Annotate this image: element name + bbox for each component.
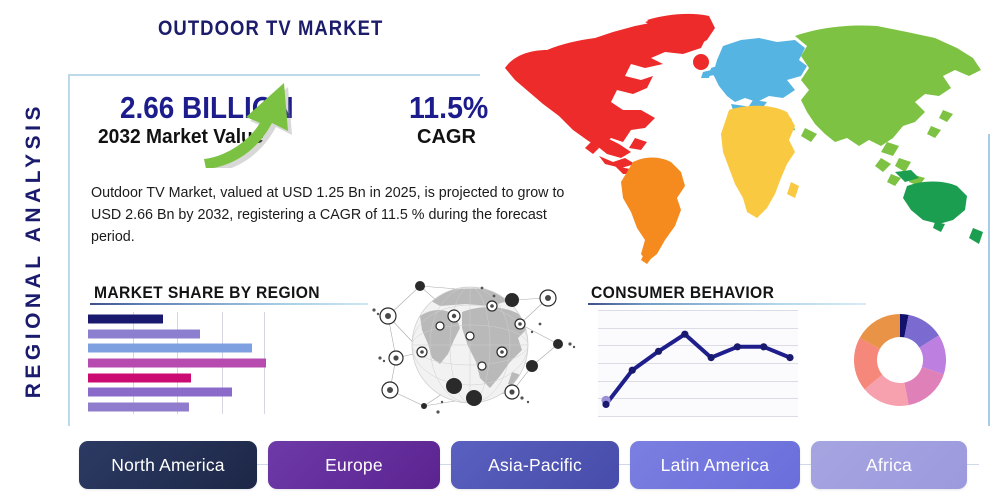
line-chart-marker xyxy=(760,343,767,350)
bar-chart-bar xyxy=(88,359,266,368)
infographic-root: REGIONAL ANALYSIS OUTDOOR TV MARKET 2.66… xyxy=(0,0,1000,500)
page-title: OUTDOOR TV MARKET xyxy=(158,17,383,41)
line-chart-marker xyxy=(655,348,662,355)
bar-chart-bar xyxy=(88,402,189,411)
region-tab-label: Europe xyxy=(325,455,383,476)
bar-chart-bar xyxy=(88,373,191,382)
line-chart-series xyxy=(598,310,798,416)
region-tab-label: North America xyxy=(111,455,224,476)
region-tabs: North AmericaEuropeAsia-PacificLatin Ame… xyxy=(79,441,979,489)
cagr-figure: 11.5% xyxy=(409,90,488,126)
region-tab-north-america[interactable]: North America xyxy=(79,441,257,489)
market-share-bar-chart xyxy=(88,312,266,414)
line-chart-marker xyxy=(681,331,688,338)
bar-chart-row xyxy=(88,312,266,327)
region-tab-label: Africa xyxy=(866,455,912,476)
region-tab-label: Asia-Pacific xyxy=(488,455,582,476)
region-tab-label: Latin America xyxy=(661,455,770,476)
sidebar-vertical-label: REGIONAL ANALYSIS xyxy=(12,50,56,450)
line-chart-marker xyxy=(629,367,636,374)
bar-chart-rows xyxy=(88,312,266,414)
line-chart-marker xyxy=(786,354,793,361)
section-title-market-share: MARKET SHARE BY REGION xyxy=(94,283,320,303)
region-tab-asia-pacific[interactable]: Asia-Pacific xyxy=(451,441,619,489)
donut-slice xyxy=(904,367,943,405)
line-chart-marker xyxy=(708,354,715,361)
bar-chart-row xyxy=(88,327,266,342)
bar-chart-row xyxy=(88,399,266,414)
region-tab-latin-america[interactable]: Latin America xyxy=(630,441,800,489)
panel-border-top xyxy=(68,74,480,76)
bar-chart-row xyxy=(88,370,266,385)
global-network-icon xyxy=(362,266,578,424)
sidebar-vertical-label-text: REGIONAL ANALYSIS xyxy=(22,102,46,398)
line-chart-marker xyxy=(734,343,741,350)
bar-chart-bar xyxy=(88,388,232,397)
bar-chart-bar xyxy=(88,329,200,338)
region-tab-europe[interactable]: Europe xyxy=(268,441,440,489)
growth-arrow-icon xyxy=(198,78,308,168)
line-chart-marker xyxy=(602,401,609,408)
bar-chart-bar xyxy=(88,344,252,353)
section-rule-consumer-behavior xyxy=(588,303,866,305)
panel-border-left xyxy=(68,74,70,426)
world-map-icon xyxy=(495,6,1000,276)
consumer-behavior-line-chart xyxy=(598,310,798,416)
bar-chart-row xyxy=(88,341,266,356)
section-title-consumer-behavior: CONSUMER BEHAVIOR xyxy=(591,283,774,303)
bar-chart-row xyxy=(88,356,266,371)
cagr-caption: CAGR xyxy=(417,126,476,149)
section-rule-market-share xyxy=(90,303,368,305)
bar-chart-row xyxy=(88,385,266,400)
region-tab-africa[interactable]: Africa xyxy=(811,441,967,489)
bar-chart-bar xyxy=(88,315,163,324)
donut-chart xyxy=(852,312,948,408)
